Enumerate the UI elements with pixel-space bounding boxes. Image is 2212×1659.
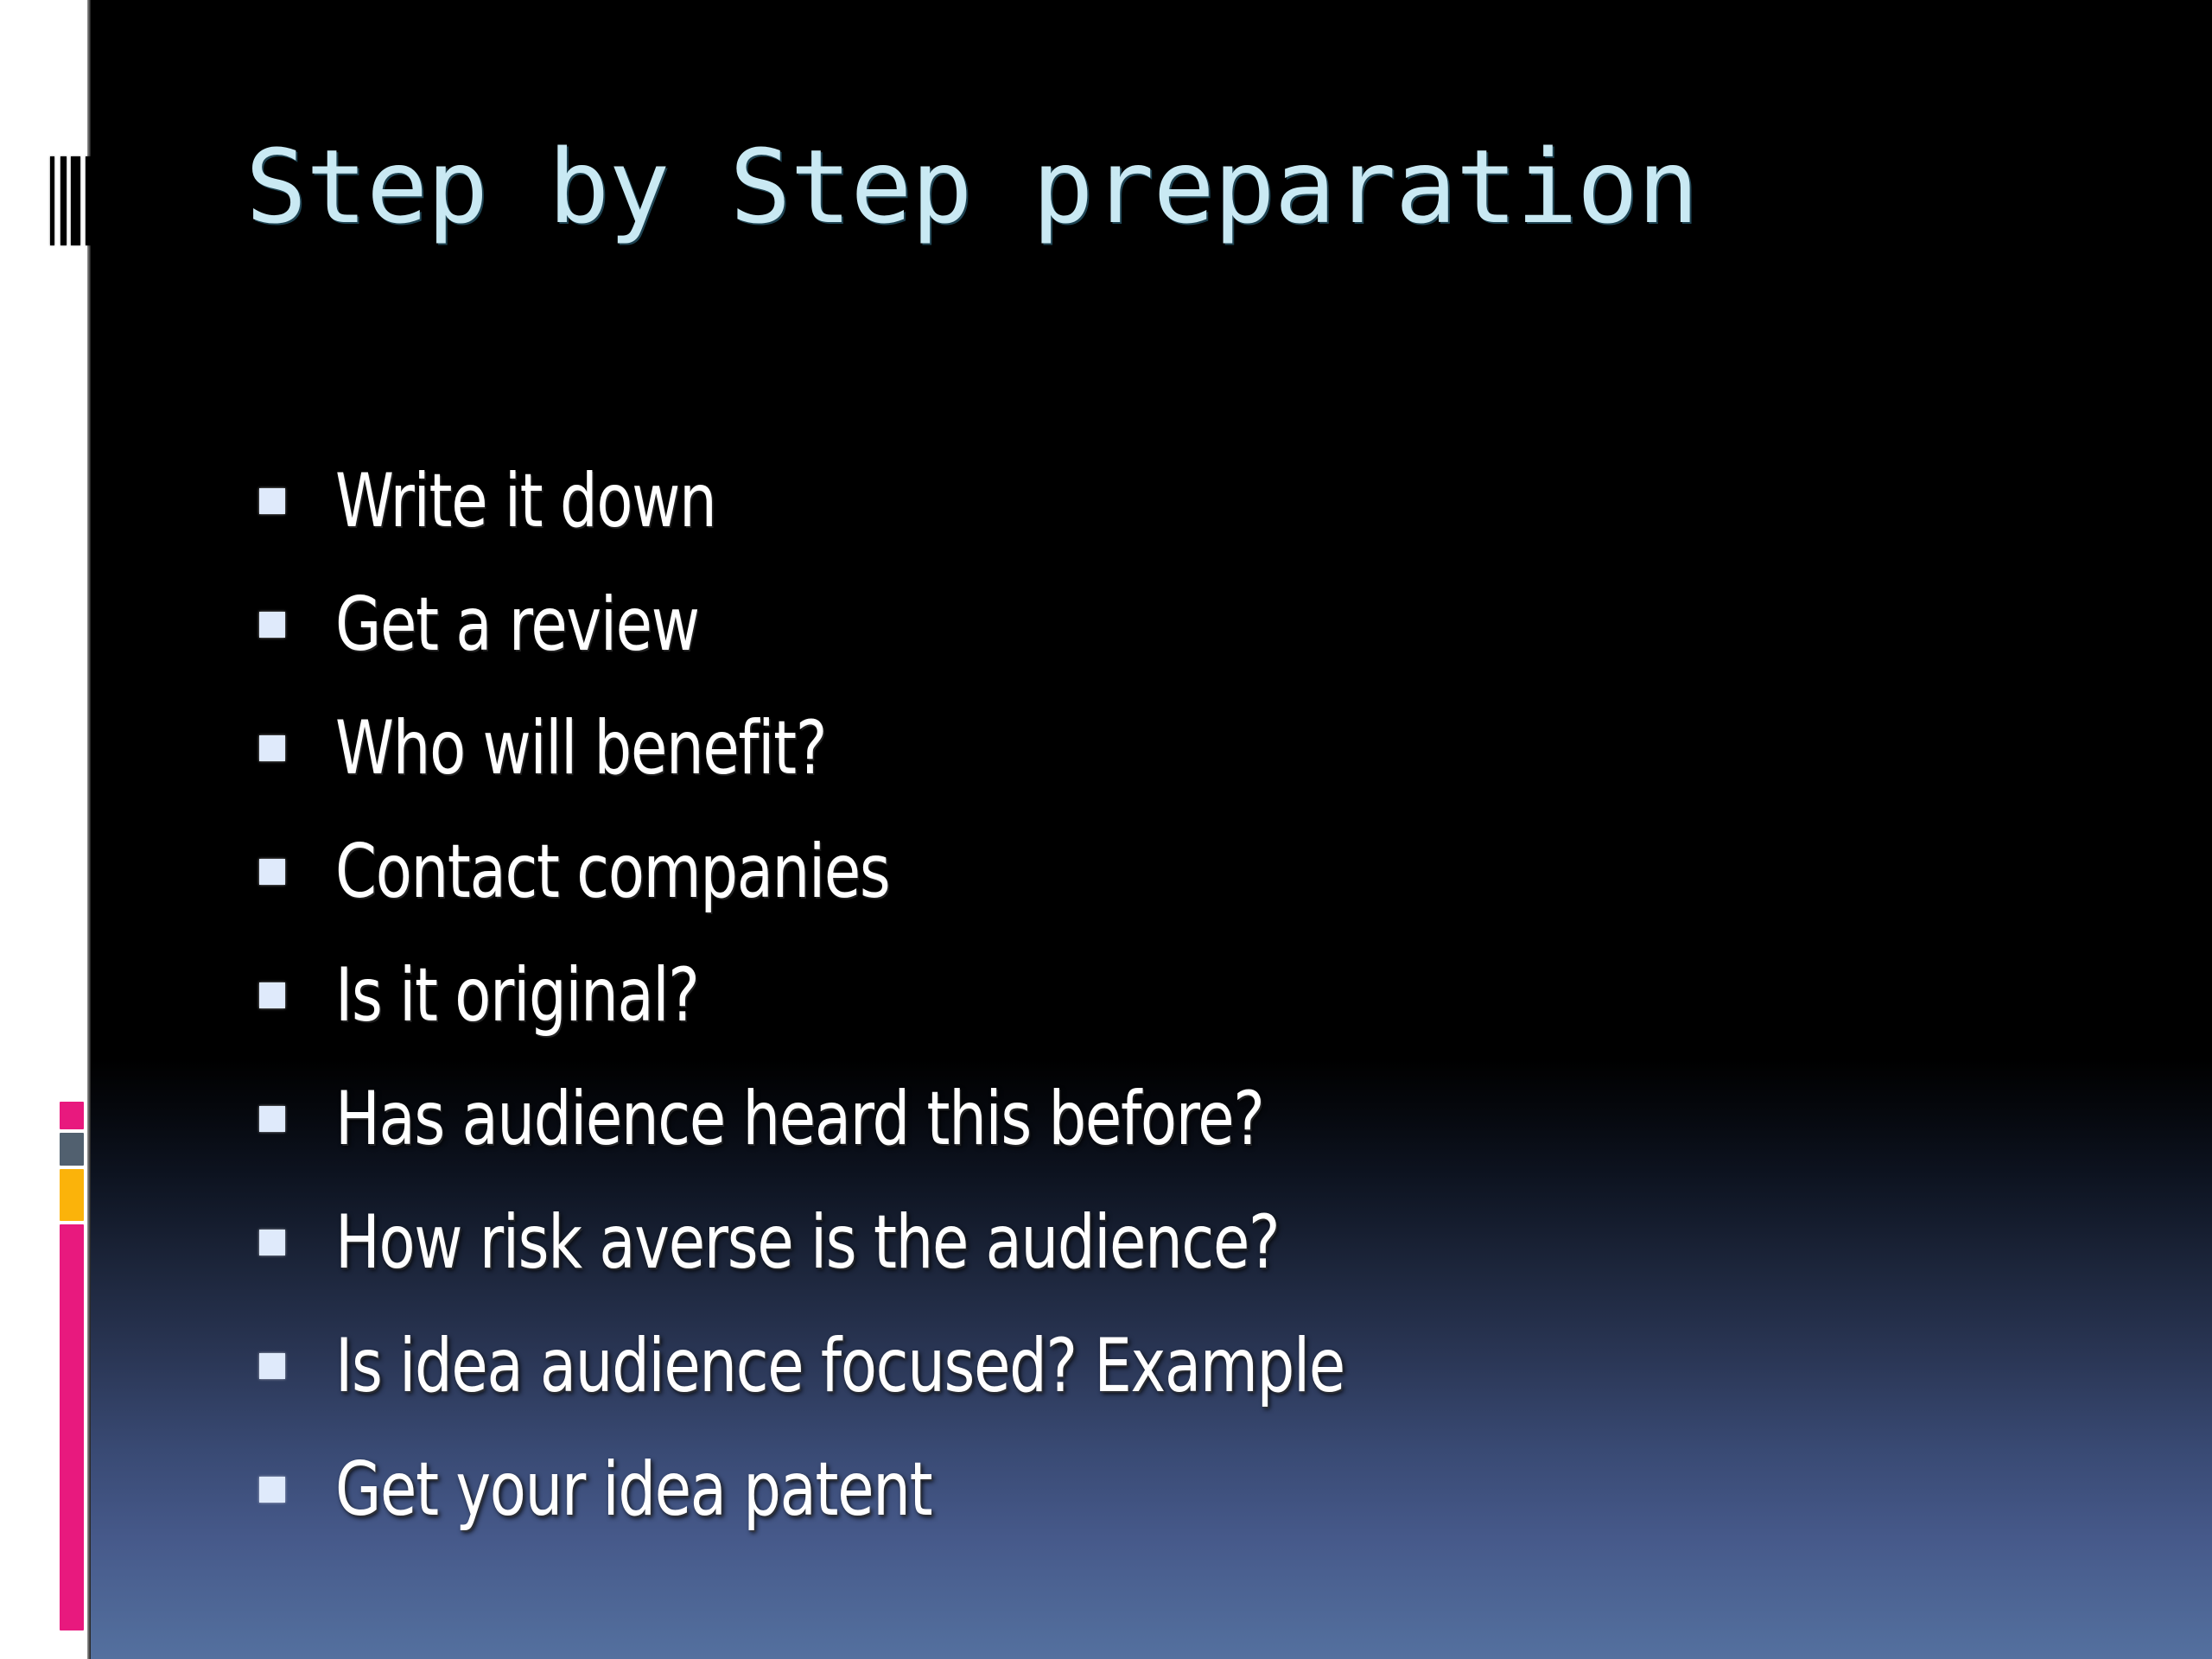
- bullet-square-icon: [259, 1477, 285, 1503]
- bullet-label: Get a review: [335, 588, 1726, 662]
- decorative-vertical-bar-icon: [71, 156, 80, 245]
- list-item: Get your idea patent: [259, 1427, 2074, 1551]
- bullet-label: Write it down: [335, 464, 1726, 538]
- bullet-square-icon: [259, 612, 285, 638]
- bullet-label: Get your idea patent: [335, 1452, 1726, 1527]
- bullet-square-icon: [259, 488, 285, 514]
- list-item: Contact companies: [259, 810, 2074, 933]
- bullet-label: Has audience heard this before?: [335, 1082, 1726, 1156]
- list-item: Has audience heard this before?: [259, 1057, 2074, 1180]
- slide-title: Step by Step preparation: [245, 133, 1974, 241]
- accent-color-segment: [60, 1133, 84, 1166]
- decorative-vertical-bar-icon: [60, 156, 67, 245]
- list-item: Get a review: [259, 563, 2074, 686]
- bullet-label: How risk averse is the audience?: [335, 1205, 1726, 1280]
- bullet-label: Contact companies: [335, 835, 1726, 909]
- list-item: Is idea audience focused? Example: [259, 1304, 2074, 1427]
- accent-color-segment: [60, 1102, 84, 1129]
- accent-color-bar-stack: [60, 1102, 84, 1634]
- decorative-bar-gap: [54, 156, 60, 245]
- bullet-square-icon: [259, 859, 285, 885]
- list-item: How risk averse is the audience?: [259, 1180, 2074, 1304]
- accent-color-segment: [60, 1224, 84, 1630]
- bullet-square-icon: [259, 1106, 285, 1132]
- decorative-bar-group-icon: [50, 156, 102, 245]
- left-sidebar-edge: [87, 0, 91, 1659]
- list-item: Is it original?: [259, 933, 2074, 1057]
- bullet-square-icon: [259, 735, 285, 761]
- bullet-square-icon: [259, 1353, 285, 1379]
- bullet-square-icon: [259, 982, 285, 1008]
- list-item: Write it down: [259, 439, 2074, 563]
- slide-canvas: Step by Step preparation Write it downGe…: [0, 0, 2212, 1659]
- bullet-label: Who will benefit?: [335, 711, 1726, 785]
- decorative-vertical-bar-icon: [86, 156, 102, 245]
- bullet-square-icon: [259, 1230, 285, 1255]
- bullet-list: Write it downGet a reviewWho will benefi…: [259, 439, 2074, 1551]
- accent-color-segment: [60, 1169, 84, 1221]
- list-item: Who will benefit?: [259, 686, 2074, 810]
- bullet-label: Is idea audience focused? Example: [335, 1329, 1726, 1403]
- bullet-label: Is it original?: [335, 958, 1726, 1033]
